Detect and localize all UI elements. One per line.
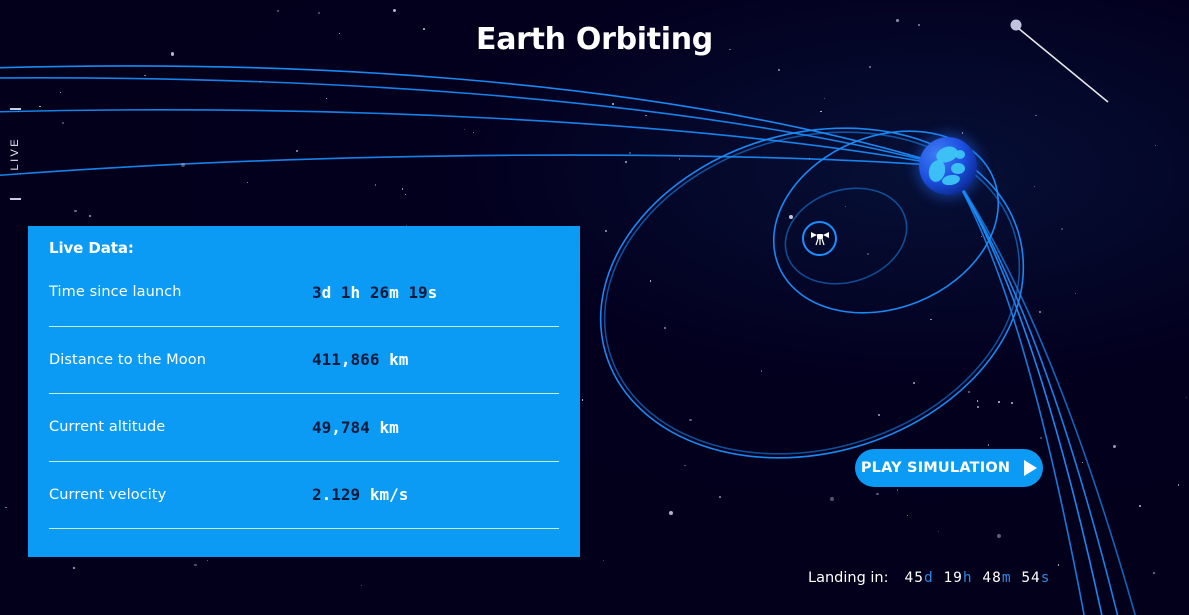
value-num: 411 xyxy=(312,350,341,369)
value-num: 866 xyxy=(351,350,380,369)
landing-countdown: Landing in: 45d 19h 48m 54s xyxy=(808,570,1051,586)
value-unit: km xyxy=(370,418,399,437)
play-simulation-label: PLAY SIMULATION xyxy=(861,460,1010,476)
live-data-panel: Live Data: Time since launch3d 1h 26m 19… xyxy=(28,226,580,557)
value-num: 784 xyxy=(341,418,370,437)
earth-globe xyxy=(919,137,977,195)
value-num: 45 xyxy=(905,570,924,586)
value-unit: , xyxy=(341,350,351,369)
data-row-value: 2.129 km/s xyxy=(312,485,408,504)
value-num: 129 xyxy=(331,485,360,504)
data-row-value: 3d 1h 26m 19s xyxy=(312,283,437,302)
data-row-value: 411,866 km xyxy=(312,350,408,369)
data-row-list: Time since launch3d 1h 26m 19sDistance t… xyxy=(28,257,580,529)
value-unit: m xyxy=(389,283,408,302)
live-indicator: LIVE xyxy=(2,108,28,200)
simulation-screen: LIVE Earth Orbiting Live Data: Time sinc… xyxy=(0,0,1189,615)
live-tick-top xyxy=(10,108,21,110)
value-num: 2 xyxy=(312,485,322,504)
value-unit: m xyxy=(1002,570,1021,586)
value-num: 48 xyxy=(982,570,1001,586)
value-unit: d xyxy=(322,283,341,302)
value-num: 19 xyxy=(408,283,427,302)
spacecraft-icon xyxy=(809,230,831,248)
value-unit: s xyxy=(1041,570,1051,586)
value-unit: s xyxy=(428,283,438,302)
page-title: Earth Orbiting xyxy=(0,22,1189,57)
data-row: Current altitude49,784 km xyxy=(49,394,559,462)
data-row-label: Current velocity xyxy=(49,487,312,503)
live-tick-bottom xyxy=(10,198,21,200)
value-unit: , xyxy=(331,418,341,437)
data-row: Time since launch3d 1h 26m 19s xyxy=(49,257,559,327)
value-unit: km xyxy=(379,350,408,369)
value-num: 1 xyxy=(341,283,351,302)
value-num: 54 xyxy=(1021,570,1040,586)
data-row-label: Distance to the Moon xyxy=(49,352,312,368)
value-unit: km/s xyxy=(360,485,408,504)
value-num: 19 xyxy=(943,570,962,586)
value-unit: d xyxy=(924,570,943,586)
value-num: 26 xyxy=(370,283,389,302)
panel-heading: Live Data: xyxy=(28,226,580,257)
value-num: 49 xyxy=(312,418,331,437)
value-unit: h xyxy=(351,283,370,302)
play-simulation-button[interactable]: PLAY SIMULATION xyxy=(855,449,1043,487)
landing-countdown-label: Landing in: xyxy=(808,570,889,586)
data-row: Current velocity2.129 km/s xyxy=(49,462,559,530)
data-row-value: 49,784 km xyxy=(312,418,399,437)
data-row-label: Time since launch xyxy=(49,284,312,300)
landing-countdown-value: 45d 19h 48m 54s xyxy=(905,570,1051,586)
spacecraft-marker[interactable] xyxy=(802,221,837,256)
play-triangle-icon xyxy=(1024,460,1037,476)
data-row: Distance to the Moon411,866 km xyxy=(49,327,559,395)
value-unit: . xyxy=(322,485,332,504)
value-unit: h xyxy=(963,570,982,586)
live-label: LIVE xyxy=(9,137,21,170)
data-row-label: Current altitude xyxy=(49,419,312,435)
value-num: 3 xyxy=(312,283,322,302)
